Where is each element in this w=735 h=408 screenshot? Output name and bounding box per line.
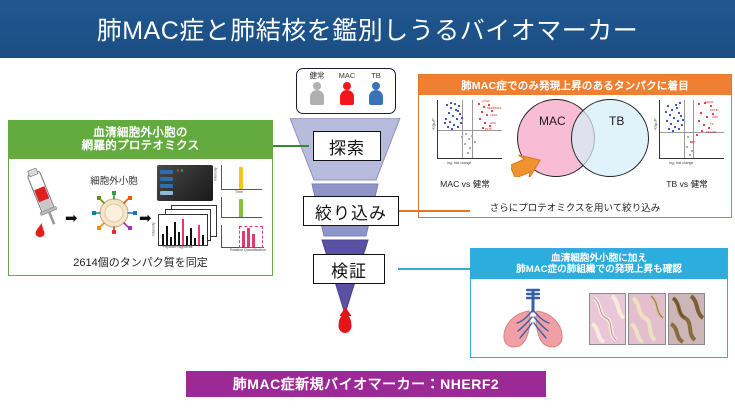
target-protein-heading: 肺MAC症でのみ発現上昇のあるタンパクに着目 [461, 78, 689, 93]
volcano-plot-tb: ORM1 ACTB CRP TF S100A9 LBP -log₁₀P log₂… [647, 98, 727, 176]
tissue-tile-group [589, 293, 705, 343]
funnel-stage-exploration-label: 探索 [329, 134, 365, 159]
tissue-tile-high [668, 293, 705, 345]
volcano-tb-gene-3: TF [710, 122, 714, 126]
arrow-icon-2: ➡ [139, 211, 152, 226]
cohort-tb-label: TB [361, 72, 391, 80]
cohort-healthy: 健常 [302, 72, 332, 106]
tissue-validation-body [471, 279, 727, 357]
volcano-mac-gene-1: SERPINA3 [487, 106, 501, 110]
volcano-tb-gene-0: ORM1 [705, 100, 713, 104]
volcano-tb-gene-5: LBP [690, 140, 695, 144]
volcano-tb-axes: ORM1 ACTB CRP TF S100A9 LBP [659, 100, 724, 159]
proteomics-panel: 血清細胞外小胞の 網羅的プロテオミクス ➡ 細胞外小胞 [8, 120, 273, 276]
proteomics-caption: 2614個のタンパク質を同定 [9, 254, 272, 270]
funnel-stage-narrowing[interactable]: 絞り込み [303, 196, 399, 226]
spectrum-xlabel: PeptideFragments [163, 245, 192, 249]
proteomics-diagram: ➡ 細胞外小胞 [9, 159, 272, 275]
relative-quant-label: Relative Quantification [230, 248, 266, 252]
lungs-icon [493, 285, 579, 351]
poster-canvas: 肺MAC症と肺結核を鑑別しうるバイオマーカー 血清細胞外小胞の 網羅的プロテオミ… [0, 0, 735, 408]
volcano-mac-gene-2: LRG1 [490, 113, 498, 117]
funnel-stage-validation-label: 検証 [331, 257, 367, 282]
volcano-plot-mac: CTGF SERPINA3 LRG1 HPX PLTP -log₁₀P log₂… [425, 98, 505, 176]
header-bar: 肺MAC症と肺結核を鑑別しうるバイオマーカー [0, 0, 735, 58]
tissue-heading-line1: 血清細胞外小胞に加え [551, 253, 647, 264]
volcano-tb-xlabel: log₂ fold change [669, 161, 693, 165]
volcano-tb-gene-2: CRP [712, 115, 718, 119]
spectrum-ylabel: Intensity [152, 222, 156, 235]
arrow-icon-1: ➡ [65, 211, 78, 226]
mass-spectrometry-group: Intensity Time [157, 163, 267, 255]
volcano-tb-gene-1: ACTB [710, 108, 718, 112]
chromatogram-xlabel-1: Time [235, 190, 243, 194]
cohort-mac: MAC [332, 72, 362, 106]
highlight-arrow-icon [511, 151, 551, 177]
volcano-tb-caption: TB vs 健常 [647, 178, 727, 190]
chromatogram-plot-2 [221, 197, 262, 218]
tissue-validation-panel: 血清細胞外小胞に加え 肺MAC症の肺組織での発現上昇も確認 [470, 248, 728, 358]
spectra-stack: Intensity PeptideFragments [157, 205, 219, 251]
funnel-stage-validation[interactable]: 検証 [313, 254, 385, 284]
volcano-mac-axes: CTGF SERPINA3 LRG1 HPX PLTP [437, 100, 502, 159]
tissue-tile-mid [628, 293, 665, 345]
blood-drop-icon [339, 314, 352, 333]
extracellular-vesicle-icon [90, 188, 138, 234]
person-icon-mac [338, 82, 356, 106]
volcano-mac-gene-4: PLTP [485, 127, 492, 131]
funnel-stage-exploration[interactable]: 探索 [313, 131, 381, 161]
venn-circle-tb [571, 99, 649, 177]
vesicle-label: 細胞外小胞 [77, 173, 151, 187]
venn-label-tb: TB [609, 114, 624, 128]
cohort-healthy-label: 健常 [302, 72, 332, 80]
chromatogram-ylabel-1: Intensity [214, 167, 218, 180]
person-icon-healthy [308, 82, 326, 106]
proteomics-heading-line2: 網羅的プロテオミクス [82, 140, 200, 153]
quantification-highlight-box [239, 226, 263, 248]
target-protein-panel: 肺MAC症でのみ発現上昇のあるタンパクに着目 [418, 74, 732, 218]
target-protein-panel-header: 肺MAC症でのみ発現上昇のあるタンパクに着目 [419, 75, 731, 95]
conclusion-banner: 肺MAC症新規バイオマーカー：NHERF2 [186, 371, 546, 397]
connector-narrowing [398, 210, 470, 212]
spectrum-card-front [158, 214, 208, 246]
proteomics-panel-header: 血清細胞外小胞の 網羅的プロテオミクス [9, 121, 272, 159]
venn-diagram: MAC TB [517, 99, 649, 185]
mass-spectrometer-icon [157, 165, 213, 201]
funnel-stage-narrowing-label: 絞り込み [315, 199, 387, 224]
header-inner: 肺MAC症と肺結核を鑑別しうるバイオマーカー [0, 0, 735, 58]
tissue-heading-line2: 肺MAC症の肺組織での発現上昇も確認 [516, 264, 682, 275]
volcano-mac-xlabel: log₂ fold change [447, 161, 471, 165]
page-title: 肺MAC症と肺結核を鑑別しうるバイオマーカー [97, 11, 639, 47]
volcano-tb-gene-4: S100A9 [706, 130, 716, 134]
person-icon-tb [367, 82, 385, 106]
connector-exploration [273, 145, 309, 147]
volcano-mac-gene-3: HPX [490, 121, 496, 125]
chromatogram-plot-1: Intensity Time [221, 165, 262, 190]
target-protein-body: CTGF SERPINA3 LRG1 HPX PLTP -log₁₀P log₂… [419, 95, 731, 217]
tissue-tile-low [589, 293, 626, 345]
venn-label-mac: MAC [539, 114, 566, 128]
volcano-tb-ylabel: -log₁₀P [653, 118, 658, 130]
relative-quantification-plot: Relative Quantification [221, 225, 264, 248]
volcano-mac-caption: MAC vs 健常 [425, 178, 505, 190]
connector-validation [398, 268, 472, 270]
cohort-tb: TB [361, 72, 391, 106]
volcano-mac-ylabel: -log₁₀P [431, 118, 436, 130]
volcano-mac-gene-0: CTGF [482, 99, 490, 103]
cohort-mac-label: MAC [332, 72, 362, 80]
conclusion-banner-text: 肺MAC症新規バイオマーカー：NHERF2 [233, 374, 499, 394]
syringe-icon [25, 167, 65, 239]
proteomics-heading-line1: 血清細胞外小胞の [93, 127, 187, 140]
tissue-validation-panel-header: 血清細胞外小胞に加え 肺MAC症の肺組織での発現上昇も確認 [471, 249, 727, 279]
cohort-legend: 健常 MAC TB [296, 68, 396, 114]
